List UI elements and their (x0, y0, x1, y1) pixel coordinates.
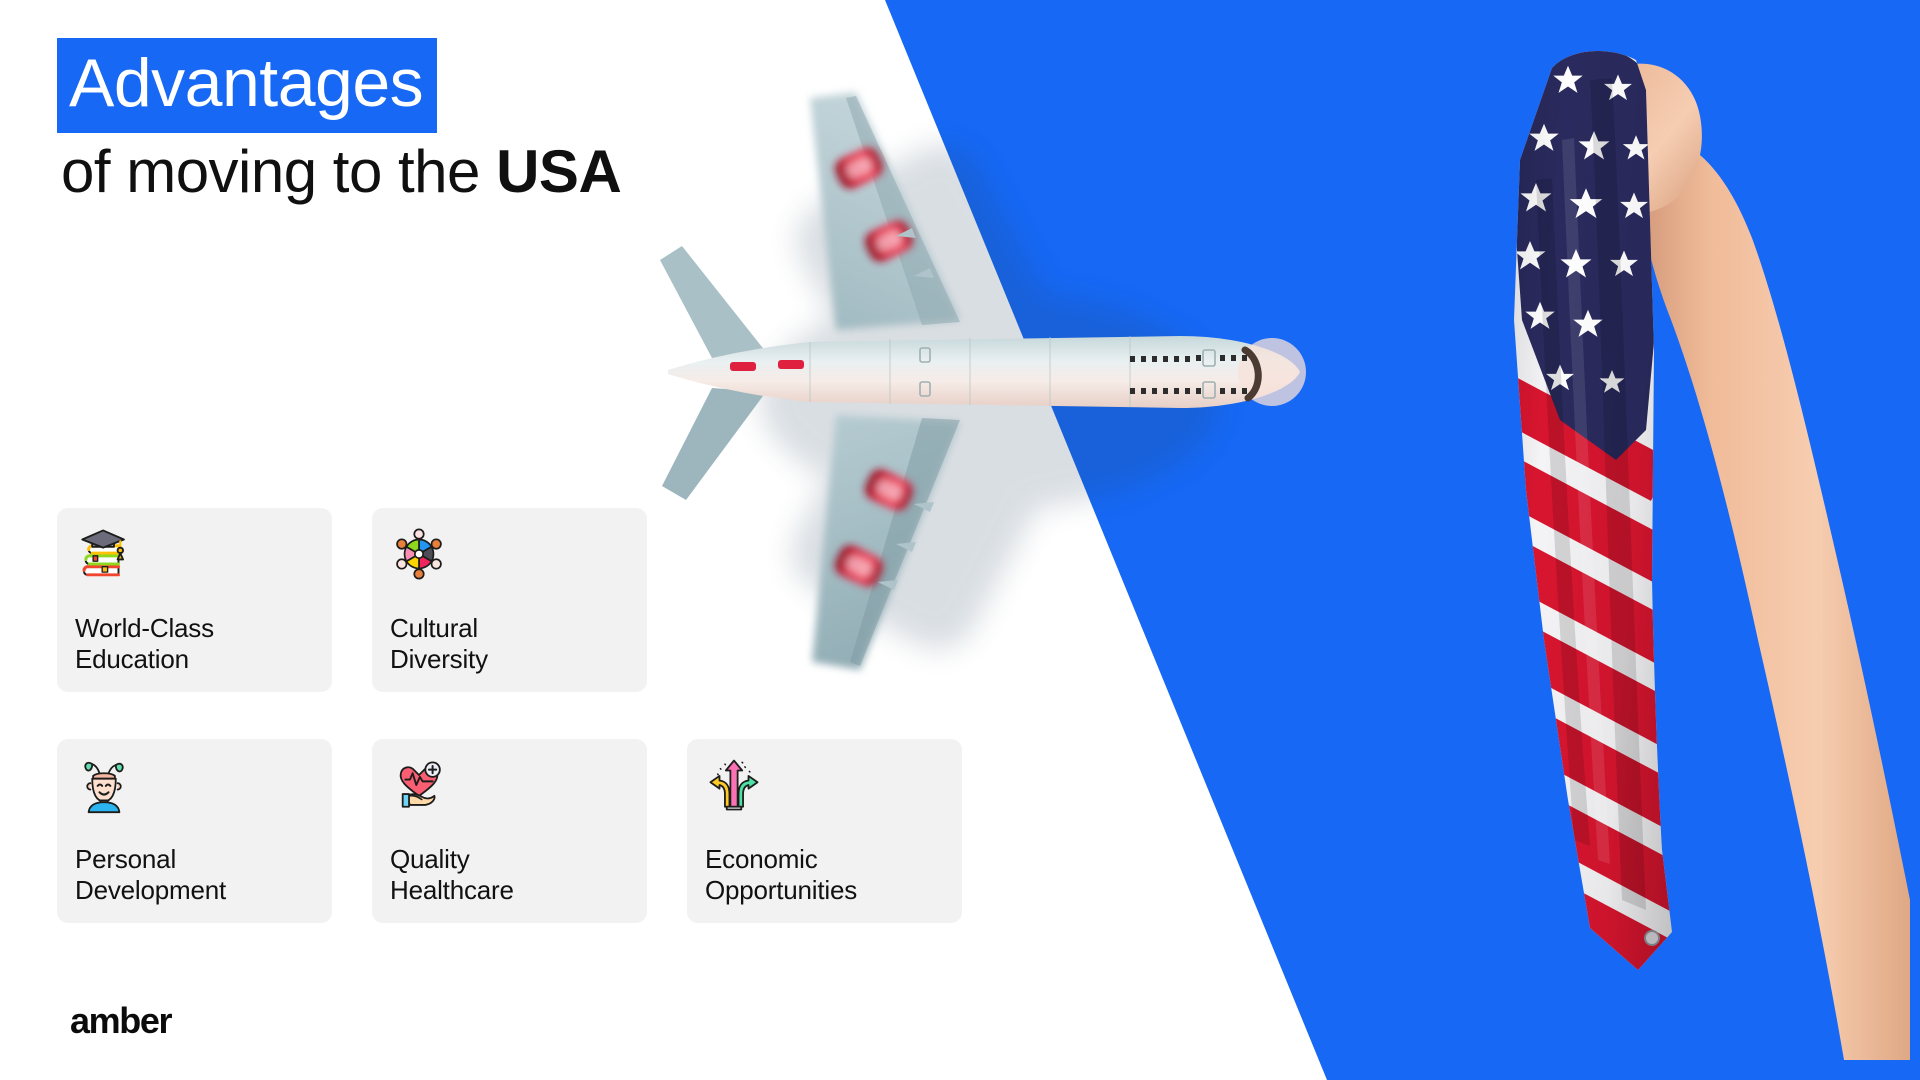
advantages-card-grid: World-Class Education (57, 508, 977, 923)
card-row-1: World-Class Education (57, 508, 977, 692)
card-label: Cultural Diversity (390, 613, 629, 678)
graduation-books-icon (75, 525, 133, 583)
branching-arrows-icon (705, 756, 763, 814)
card-label: Quality Healthcare (390, 844, 629, 909)
flag-grommet (1645, 931, 1659, 945)
card-cultural-diversity[interactable]: Cultural Diversity (372, 508, 647, 692)
head-sprout-icon (75, 756, 133, 814)
card-quality-healthcare[interactable]: Quality Healthcare (372, 739, 647, 923)
title-line2-prefix: of moving to the (61, 138, 496, 205)
title-highlight-word: Advantages (57, 38, 437, 133)
card-label: World-Class Education (75, 613, 314, 678)
card-label: Personal Development (75, 844, 314, 909)
page-title: Advantages of moving to the USA (57, 38, 621, 208)
card-world-class-education[interactable]: World-Class Education (57, 508, 332, 692)
card-economic-opportunities[interactable]: Economic Opportunities (687, 739, 962, 923)
infographic-canvas: Advantages of moving to the USA (0, 0, 1920, 1080)
people-circle-icon (390, 525, 448, 583)
hand-heart-plus-icon (390, 756, 448, 814)
title-second-line: of moving to the USA (57, 137, 621, 208)
title-country: USA (496, 138, 621, 205)
card-row-2: Personal Development (57, 739, 977, 923)
hand-holding-usa-flag-image (1440, 20, 1910, 1060)
card-personal-development[interactable]: Personal Development (57, 739, 332, 923)
forearm (1642, 138, 1910, 1060)
card-label: Economic Opportunities (705, 844, 944, 909)
amber-logo[interactable]: amber (70, 1000, 171, 1042)
